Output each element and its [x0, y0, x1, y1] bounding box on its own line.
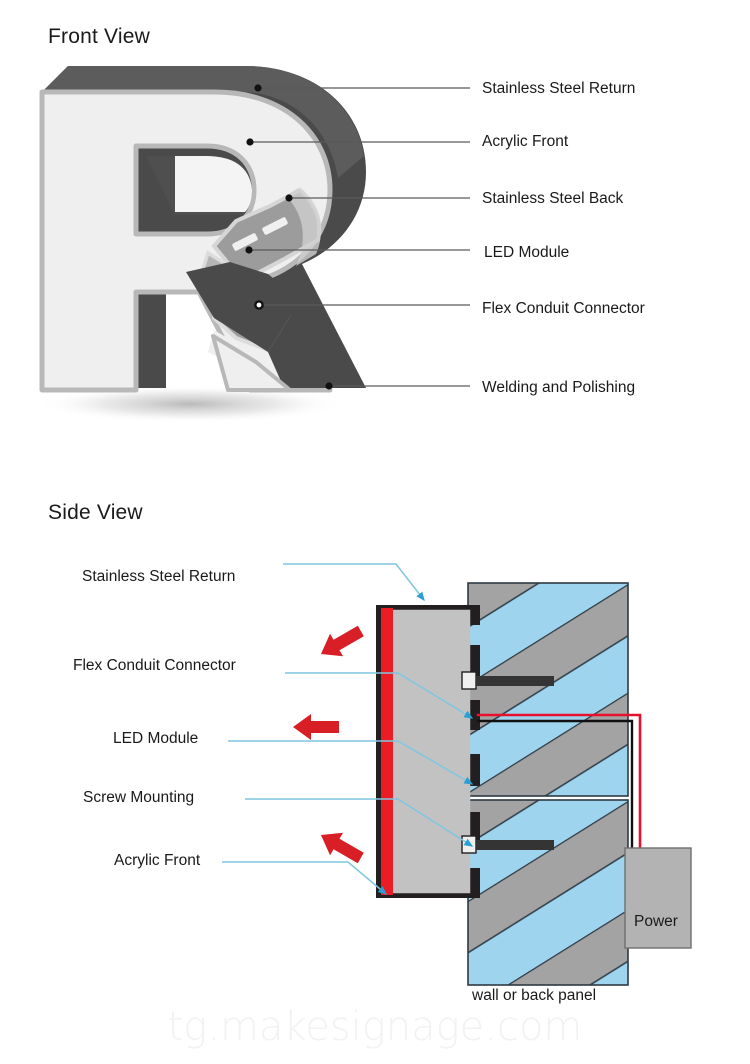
wall-panel-upper [468, 583, 628, 796]
side-label-led-module: LED Module [113, 730, 198, 748]
motion-arrow-top [314, 620, 367, 666]
side-label-flex-conduit-connector: Flex Conduit Connector [73, 657, 236, 675]
side-label-screw-mounting: Screw Mounting [83, 789, 194, 807]
front-label-acrylic-front: Acrylic Front [482, 133, 568, 151]
wall-panel-caption: wall or back panel [472, 987, 596, 1005]
power-supply-box [625, 848, 691, 948]
acrylic-front-edge [376, 605, 381, 898]
front-label-led-module: LED Module [484, 244, 569, 262]
leader-line-sv-stainless-steel-return [283, 564, 424, 600]
front-label-welding-and-polishing: Welding and Polishing [482, 379, 635, 397]
front-label-stainless-steel-back: Stainless Steel Back [482, 190, 623, 208]
front-label-flex-conduit-connector: Flex Conduit Connector [482, 300, 645, 318]
leader-line-sv-acrylic-front [222, 862, 386, 894]
site-watermark: tg.makesignage.com [0, 1004, 750, 1050]
side-view-motion-arrows [293, 620, 367, 870]
power-supply-label: Power [634, 913, 678, 931]
front-view-letter-group [35, 66, 366, 423]
wall-panel-lower [468, 800, 628, 985]
leader-dot-led-module [245, 246, 252, 253]
leader-dot-acrylic-front [246, 138, 253, 145]
stainless-steel-return-fill [392, 610, 470, 893]
acrylic-front-strip [381, 608, 393, 895]
diagram-artwork [0, 0, 750, 1064]
leader-dot-welding-and-polishing [325, 382, 332, 389]
leader-dot-stainless-steel-return [254, 84, 261, 91]
side-view-group [222, 564, 691, 985]
side-label-acrylic-front: Acrylic Front [114, 852, 200, 870]
side-label-stainless-steel-return: Stainless Steel Return [82, 568, 235, 586]
motion-arrow-middle [293, 714, 339, 740]
leader-dot-stainless-steel-back [285, 194, 292, 201]
leader-dot-flex-conduit-connector [255, 301, 262, 308]
diagram-canvas: Front View Side View [0, 0, 750, 1064]
front-label-stainless-steel-return: Stainless Steel Return [482, 80, 635, 98]
